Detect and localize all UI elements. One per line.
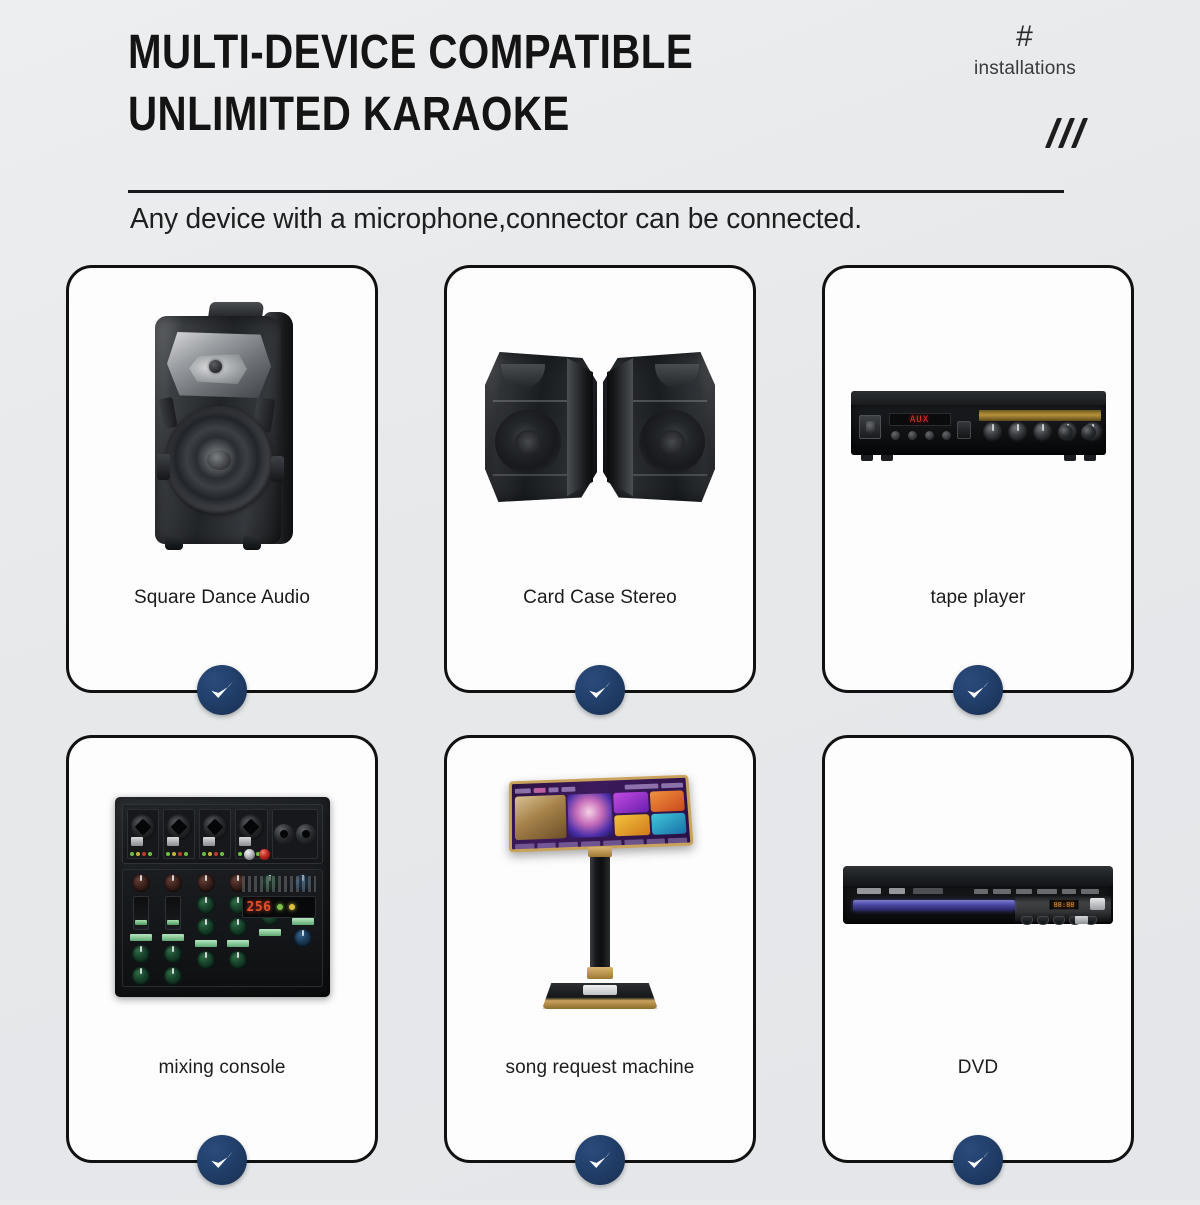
installations-label: installations (945, 56, 1105, 82)
hash-icon: # (945, 20, 1105, 54)
installations-marker: # installations (945, 20, 1105, 82)
device-label: mixing console (148, 1056, 295, 1080)
device-card-dvd[interactable]: 88:88 DVD (822, 735, 1134, 1163)
dvd-player-icon: 88:88 (843, 866, 1113, 928)
page-title: MULTI-DEVICE COMPATIBLE UNLIMITED KARAOK… (128, 22, 848, 146)
stereo-speakers-icon (485, 352, 715, 502)
device-card-tape-player[interactable]: AUX tape player (822, 265, 1134, 693)
check-badge-icon (197, 1135, 247, 1185)
device-card-song-request-machine[interactable]: song request machine (444, 735, 756, 1163)
device-image-dvd-player: 88:88 (825, 738, 1131, 1056)
title-line-1: MULTI-DEVICE COMPATIBLE (128, 22, 733, 84)
slash-3 (1071, 118, 1088, 148)
device-image-amplifier: AUX (825, 268, 1131, 586)
device-card-mixing-console[interactable]: 256 mixing console (66, 735, 378, 1163)
device-label: DVD (948, 1056, 1008, 1080)
device-image-mixer: 256 (69, 738, 375, 1056)
device-image-kiosk (447, 738, 753, 1056)
device-card-square-dance-audio[interactable]: Square Dance Audio (66, 265, 378, 693)
device-label: tape player (920, 586, 1035, 610)
device-image-stereo-pair (447, 268, 753, 586)
device-label: song request machine (496, 1056, 705, 1080)
device-card-card-case-stereo[interactable]: Card Case Stereo (444, 265, 756, 693)
device-label: Square Dance Audio (124, 586, 320, 610)
title-line-2: UNLIMITED KARAOKE (128, 84, 733, 146)
check-badge-icon (953, 1135, 1003, 1185)
mixer-led-display: 256 (247, 900, 272, 915)
dvd-led-display: 88:88 (1049, 899, 1079, 910)
mixing-console-icon: 256 (115, 797, 330, 997)
device-row-2: 256 mixing console (0, 735, 1200, 1163)
header: MULTI-DEVICE COMPATIBLE UNLIMITED KARAOK… (0, 0, 1200, 250)
pa-speaker-icon (147, 302, 297, 552)
amplifier-icon: AUX (851, 391, 1106, 463)
check-badge-icon (953, 665, 1003, 715)
check-badge-icon (575, 1135, 625, 1185)
amplifier-led-display: AUX (889, 413, 951, 426)
song-request-kiosk-icon (505, 777, 695, 1017)
header-divider (128, 190, 1064, 193)
promo-page: MULTI-DEVICE COMPATIBLE UNLIMITED KARAOK… (0, 0, 1200, 1200)
device-image-speaker (69, 268, 375, 586)
device-label: Card Case Stereo (513, 586, 687, 610)
check-badge-icon (197, 665, 247, 715)
device-row-1: Square Dance Audio (0, 265, 1200, 693)
subtitle: Any device with a microphone,connector c… (130, 203, 862, 236)
slash-marks-icon (1051, 118, 1082, 148)
device-grid: Square Dance Audio (0, 265, 1200, 1205)
check-badge-icon (575, 665, 625, 715)
